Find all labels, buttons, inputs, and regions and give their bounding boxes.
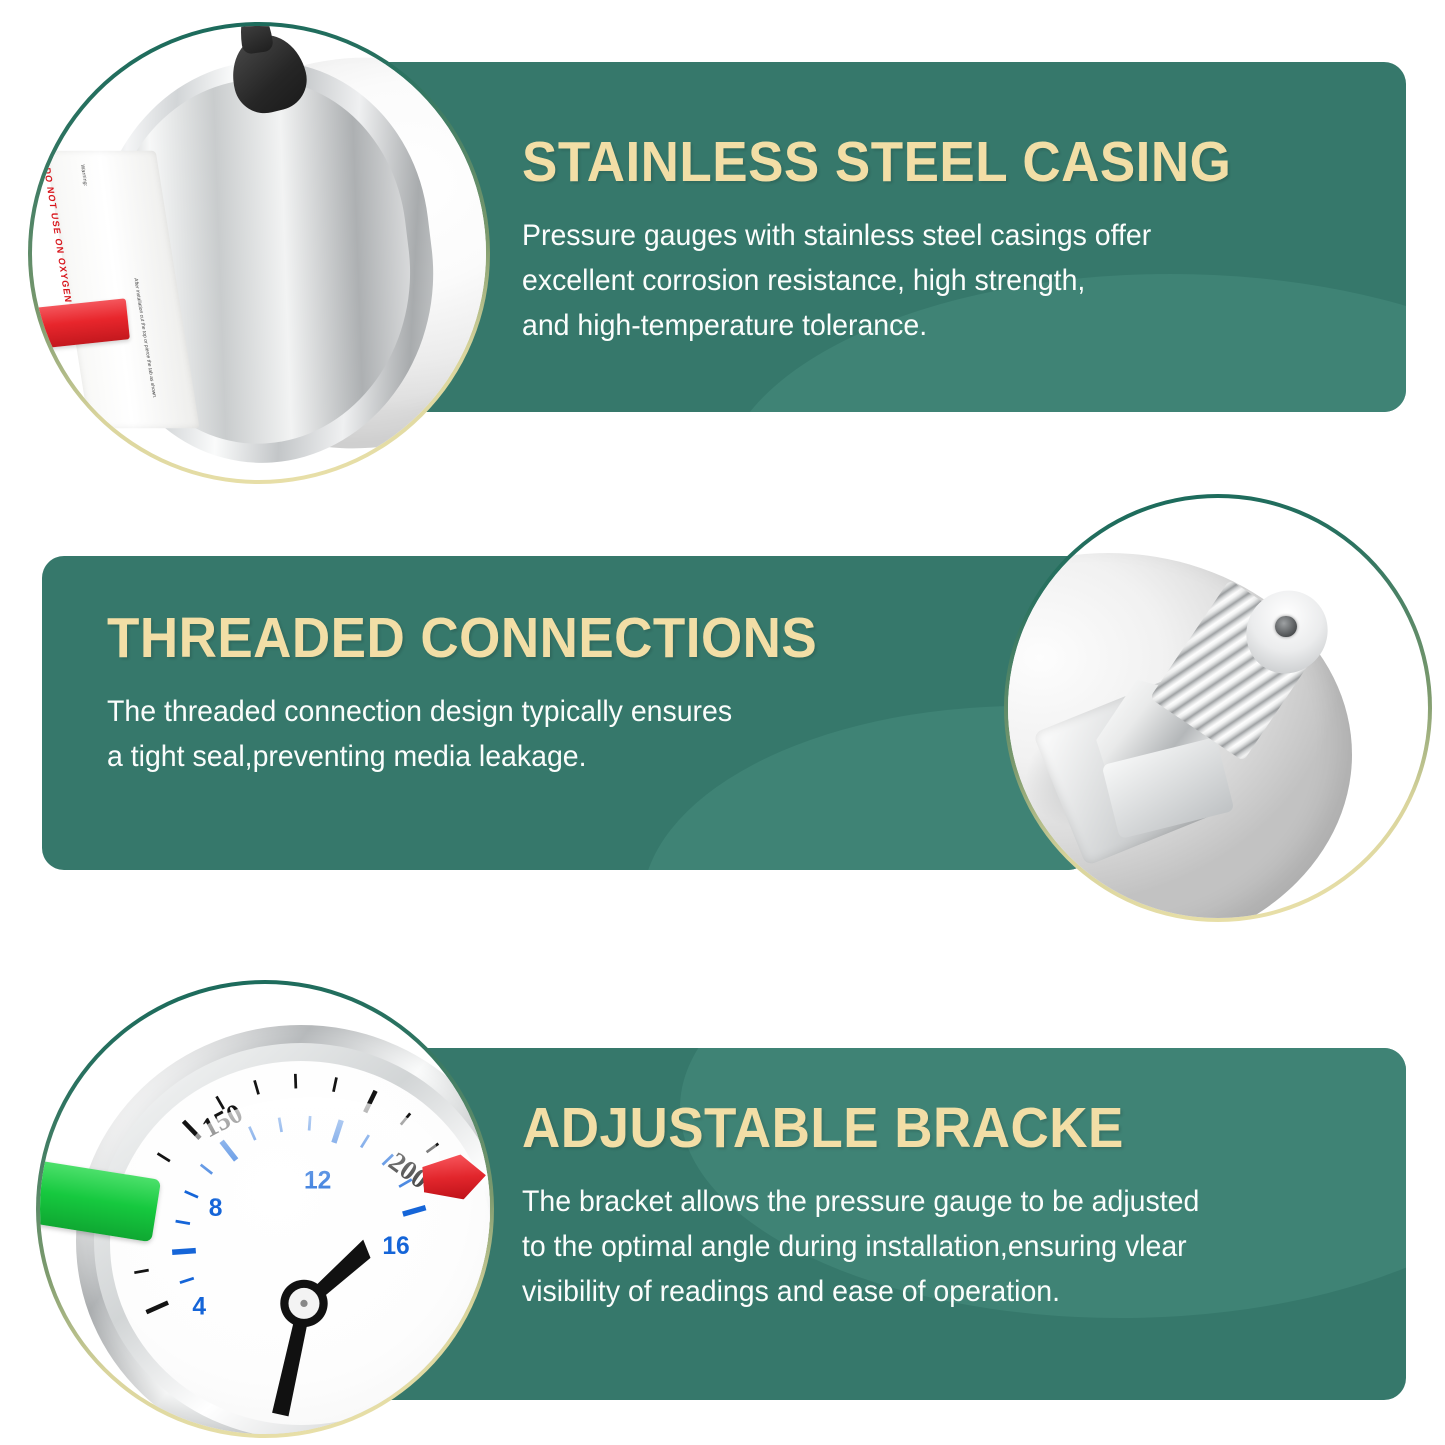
gauge-back-casing-photo: DO NOT USE ON OXYGEN SERVI Warning: Afte… xyxy=(32,26,486,480)
medallion-disc xyxy=(1008,498,1428,918)
feature-image-threaded-connector xyxy=(1004,494,1432,922)
feature-body: The bracket allows the pressure gauge to… xyxy=(522,1180,1313,1314)
feature-image-gauge-dial: 150 200 4 8 12 16 xyxy=(36,980,494,1438)
feature-image-casing: DO NOT USE ON OXYGEN SERVI Warning: Afte… xyxy=(28,22,490,484)
warning-heading-text: Warning: xyxy=(79,164,89,186)
feature-title: THREADED CONNECTIONS xyxy=(107,608,870,668)
gauge-dial-photo: 150 200 4 8 12 16 xyxy=(40,984,490,1434)
connector-bore-hole xyxy=(1275,616,1297,638)
feature-title: STAINLESS STEEL CASING xyxy=(522,132,1266,192)
dial-bar-8: 8 xyxy=(208,1194,222,1221)
dial-bar-4: 4 xyxy=(192,1293,206,1320)
feature-body-line: excellent corrosion resistance, high str… xyxy=(522,259,1294,304)
medallion-disc: DO NOT USE ON OXYGEN SERVI Warning: Afte… xyxy=(32,26,486,480)
feature-body-line: to the optimal angle during installation… xyxy=(522,1225,1313,1270)
dial-bar-12: 12 xyxy=(304,1167,331,1194)
dial-graphics: 150 200 4 8 12 16 xyxy=(110,1061,490,1426)
psi-tick-marks xyxy=(132,1073,458,1311)
dial-needle xyxy=(272,1239,370,1416)
feature-body: Pressure gauges with stainless steel cas… xyxy=(522,214,1294,348)
gauge-dial-face: 150 200 4 8 12 16 xyxy=(110,1061,490,1426)
feature-text-adjustable-bracke: ADJUSTABLE BRACKE The bracket allows the… xyxy=(522,1098,1342,1315)
feature-body-line: and high-temperature tolerance. xyxy=(522,304,1294,349)
feature-body-line: The bracket allows the pressure gauge to… xyxy=(522,1180,1313,1225)
feature-text-threaded-connections: THREADED CONNECTIONS The threaded connec… xyxy=(107,608,927,780)
feature-body-line: a tight seal,preventing media leakage. xyxy=(107,735,898,780)
feature-text-stainless-steel-casing: STAINLESS STEEL CASING Pressure gauges w… xyxy=(522,132,1322,349)
feature-body: The threaded connection design typically… xyxy=(107,690,898,780)
dial-psi-150: 150 xyxy=(197,1097,247,1143)
threaded-connector-photo xyxy=(1008,498,1428,918)
infographic-canvas: STAINLESS STEEL CASING Pressure gauges w… xyxy=(0,0,1445,1445)
install-note-text: After installation cut the top or pierce… xyxy=(133,278,158,398)
dial-bar-16: 16 xyxy=(382,1233,409,1260)
medallion-disc: 150 200 4 8 12 16 xyxy=(40,984,490,1434)
feature-title: ADJUSTABLE BRACKE xyxy=(522,1098,1285,1158)
feature-body-line: visibility of readings and ease of opera… xyxy=(522,1270,1313,1315)
feature-body-line: Pressure gauges with stainless steel cas… xyxy=(522,214,1294,259)
feature-body-line: The threaded connection design typically… xyxy=(107,690,898,735)
